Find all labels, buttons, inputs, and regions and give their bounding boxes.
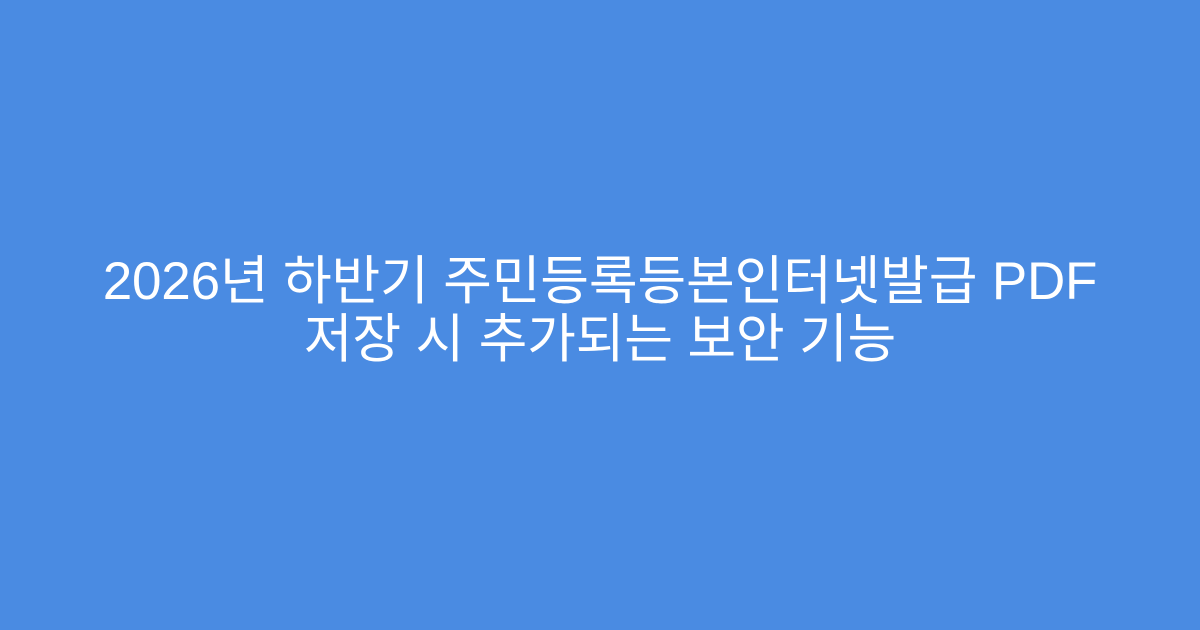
- card-title: 2026년 하반기 주민등록등본인터넷발급 PDF 저장 시 추가되는 보안 기…: [56, 253, 1144, 369]
- share-card: 2026년 하반기 주민등록등본인터넷발급 PDF 저장 시 추가되는 보안 기…: [0, 0, 1200, 630]
- card-title-block: 2026년 하반기 주민등록등본인터넷발급 PDF 저장 시 추가되는 보안 기…: [56, 253, 1144, 369]
